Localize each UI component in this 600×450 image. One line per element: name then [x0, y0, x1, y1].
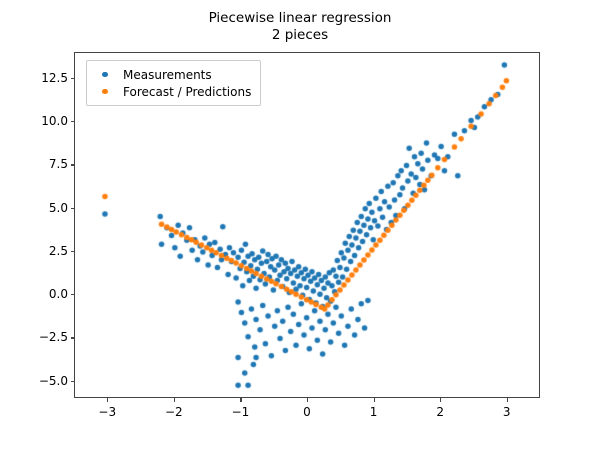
x-tick-label: −1	[232, 405, 250, 419]
x-tick-mark	[240, 398, 241, 402]
chart-title-line-2: 2 pieces	[0, 27, 600, 44]
y-tick-mark	[71, 337, 75, 338]
x-tick-label: 3	[503, 405, 511, 419]
chart-title: Piecewise linear regression 2 pieces	[0, 10, 600, 45]
y-tick-label: 12.5	[41, 71, 68, 85]
legend: Measurements Forecast / Predictions	[86, 60, 261, 106]
y-tick-mark	[71, 208, 75, 209]
y-tick-label: 2.5	[49, 244, 68, 258]
y-tick-label: −2.5	[39, 330, 68, 344]
x-tick-label: 1	[370, 405, 378, 419]
measurements-dot-marker-icon	[94, 72, 116, 78]
forecast-dot-marker-icon	[94, 89, 116, 95]
figure: Piecewise linear regression 2 pieces −5.…	[0, 0, 600, 450]
x-tick-mark	[307, 398, 308, 402]
legend-item-forecast: Forecast / Predictions	[94, 83, 251, 100]
x-tick-mark	[440, 398, 441, 402]
x-tick-label: 0	[303, 405, 311, 419]
x-tick-mark	[507, 398, 508, 402]
y-tick-label: 5.0	[49, 201, 68, 215]
legend-label-forecast: Forecast / Predictions	[123, 85, 251, 99]
y-tick-label: 7.5	[49, 157, 68, 171]
y-tick-mark	[71, 251, 75, 252]
chart-title-line-1: Piecewise linear regression	[0, 10, 600, 27]
x-tick-label: −2	[165, 405, 183, 419]
y-tick-mark	[71, 294, 75, 295]
legend-label-measurements: Measurements	[123, 68, 212, 82]
y-tick-label: −5.0	[39, 374, 68, 388]
x-tick-mark	[174, 398, 175, 402]
y-tick-mark	[71, 121, 75, 122]
x-tick-mark	[107, 398, 108, 402]
x-tick-label: 2	[436, 405, 444, 419]
y-tick-mark	[71, 381, 75, 382]
y-tick-label: 10.0	[41, 114, 68, 128]
y-tick-mark	[71, 78, 75, 79]
x-tick-mark	[374, 398, 375, 402]
legend-item-measurements: Measurements	[94, 66, 251, 83]
y-tick-mark	[71, 164, 75, 165]
x-tick-label: −3	[98, 405, 116, 419]
y-tick-label: 0.0	[49, 287, 68, 301]
